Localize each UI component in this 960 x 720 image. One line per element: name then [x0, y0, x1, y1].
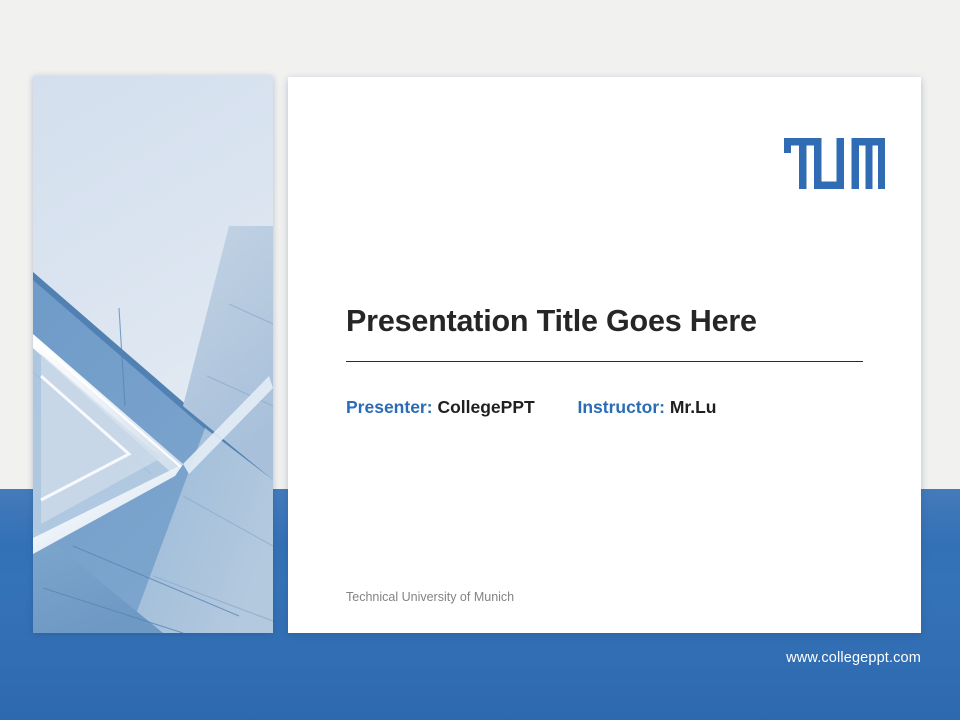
site-url: www.collegeppt.com [786, 650, 921, 666]
byline: Presenter: CollegePPT Instructor: Mr.Lu [346, 397, 717, 418]
organization-name: Technical University of Munich [346, 590, 514, 604]
presentation-slide: www.collegeppt.com [0, 0, 960, 720]
instructor-label: Instructor: [577, 397, 665, 417]
instructor-name: Mr.Lu [670, 397, 717, 417]
page-title: Presentation Title Goes Here [346, 305, 863, 339]
architecture-photo [33, 76, 273, 633]
presenter-label: Presenter: [346, 397, 433, 417]
presenter-name: CollegePPT [437, 397, 534, 417]
tum-logo [784, 138, 885, 189]
title-divider [346, 361, 863, 362]
title-block: Presentation Title Goes Here [346, 305, 863, 362]
slide-content-card: Presentation Title Goes Here Presenter: … [288, 77, 921, 633]
